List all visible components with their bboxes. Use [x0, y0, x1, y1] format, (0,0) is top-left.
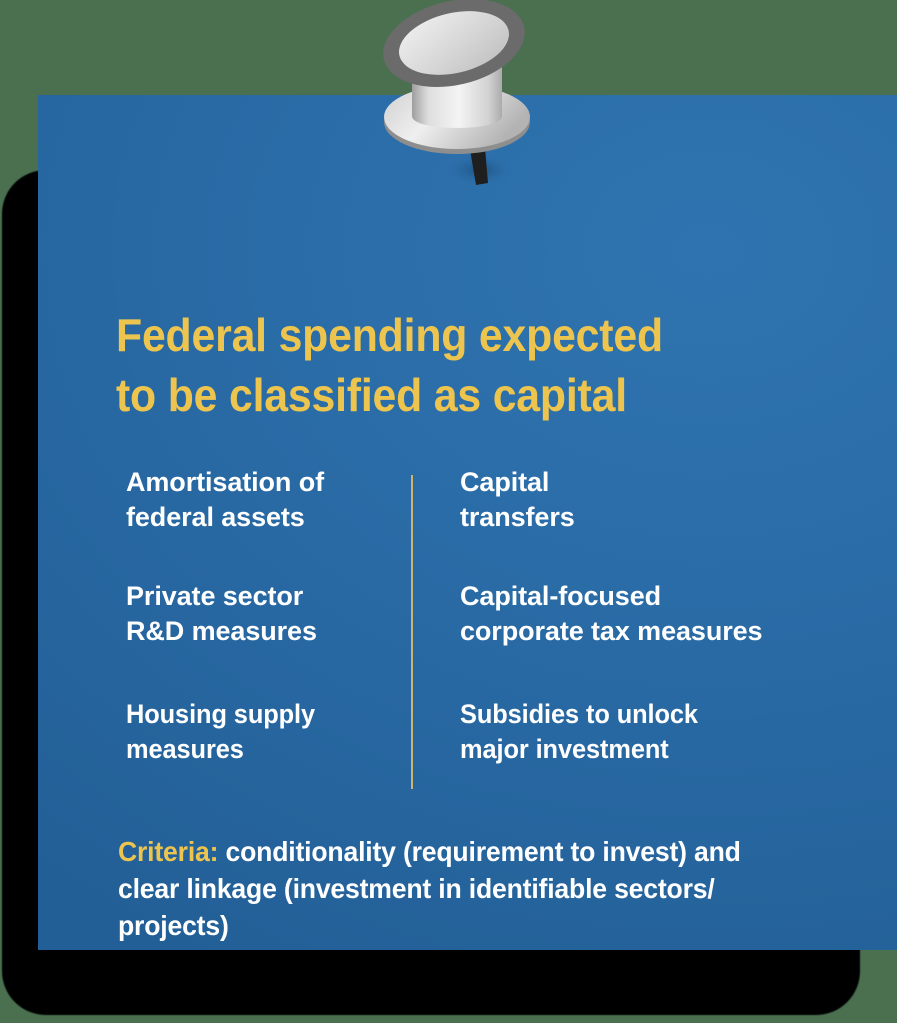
list-item-line: Amortisation of: [126, 465, 426, 500]
list-item: Private sector R&D measures: [126, 579, 426, 649]
criteria-text-1: conditionality (requirement to invest) a…: [218, 836, 740, 867]
list-item-line: R&D measures: [126, 614, 426, 649]
list-item-line: Private sector: [126, 579, 426, 614]
list-item: Subsidies to unlock major investment: [460, 697, 827, 767]
list-item-line: federal assets: [126, 500, 426, 535]
infographic-stage: Federal spending expected to be classifi…: [0, 0, 897, 1023]
criteria-label: Criteria:: [118, 836, 218, 867]
page-title-line-1: Federal spending expected: [116, 306, 804, 366]
pin-cap-rim: [374, 0, 532, 100]
list-item-line: Capital-focused: [460, 579, 850, 614]
page-title: Federal spending expected to be classifi…: [116, 306, 804, 426]
items-column-right: Capital transfers Capital-focused corpor…: [460, 465, 850, 768]
criteria-line-3: projects): [118, 907, 869, 944]
note-card: Federal spending expected to be classifi…: [38, 95, 897, 950]
list-item: Amortisation of federal assets: [126, 465, 426, 535]
list-item-line: corporate tax measures: [460, 614, 850, 649]
list-item-line: Housing supply: [126, 697, 408, 732]
list-item-line: Capital: [460, 465, 850, 500]
criteria-line-2: clear linkage (investment in identifiabl…: [118, 870, 869, 907]
list-item: Housing supply measures: [126, 697, 408, 767]
criteria-block: Criteria: conditionality (requirement to…: [118, 833, 869, 945]
items-column-left: Amortisation of federal assets Private s…: [126, 465, 426, 768]
list-item-line: measures: [126, 732, 408, 767]
capital-items-grid: Amortisation of federal assets Private s…: [126, 465, 856, 795]
criteria-line-1: Criteria: conditionality (requirement to…: [118, 833, 869, 870]
list-item-line: transfers: [460, 500, 850, 535]
list-item-line: major investment: [460, 732, 827, 767]
pin-cap-face: [393, 1, 516, 85]
page-title-line-2: to be classified as capital: [116, 366, 804, 426]
list-item: Capital-focused corporate tax measures: [460, 579, 850, 649]
list-item-line: Subsidies to unlock: [460, 697, 827, 732]
list-item: Capital transfers: [460, 465, 850, 535]
